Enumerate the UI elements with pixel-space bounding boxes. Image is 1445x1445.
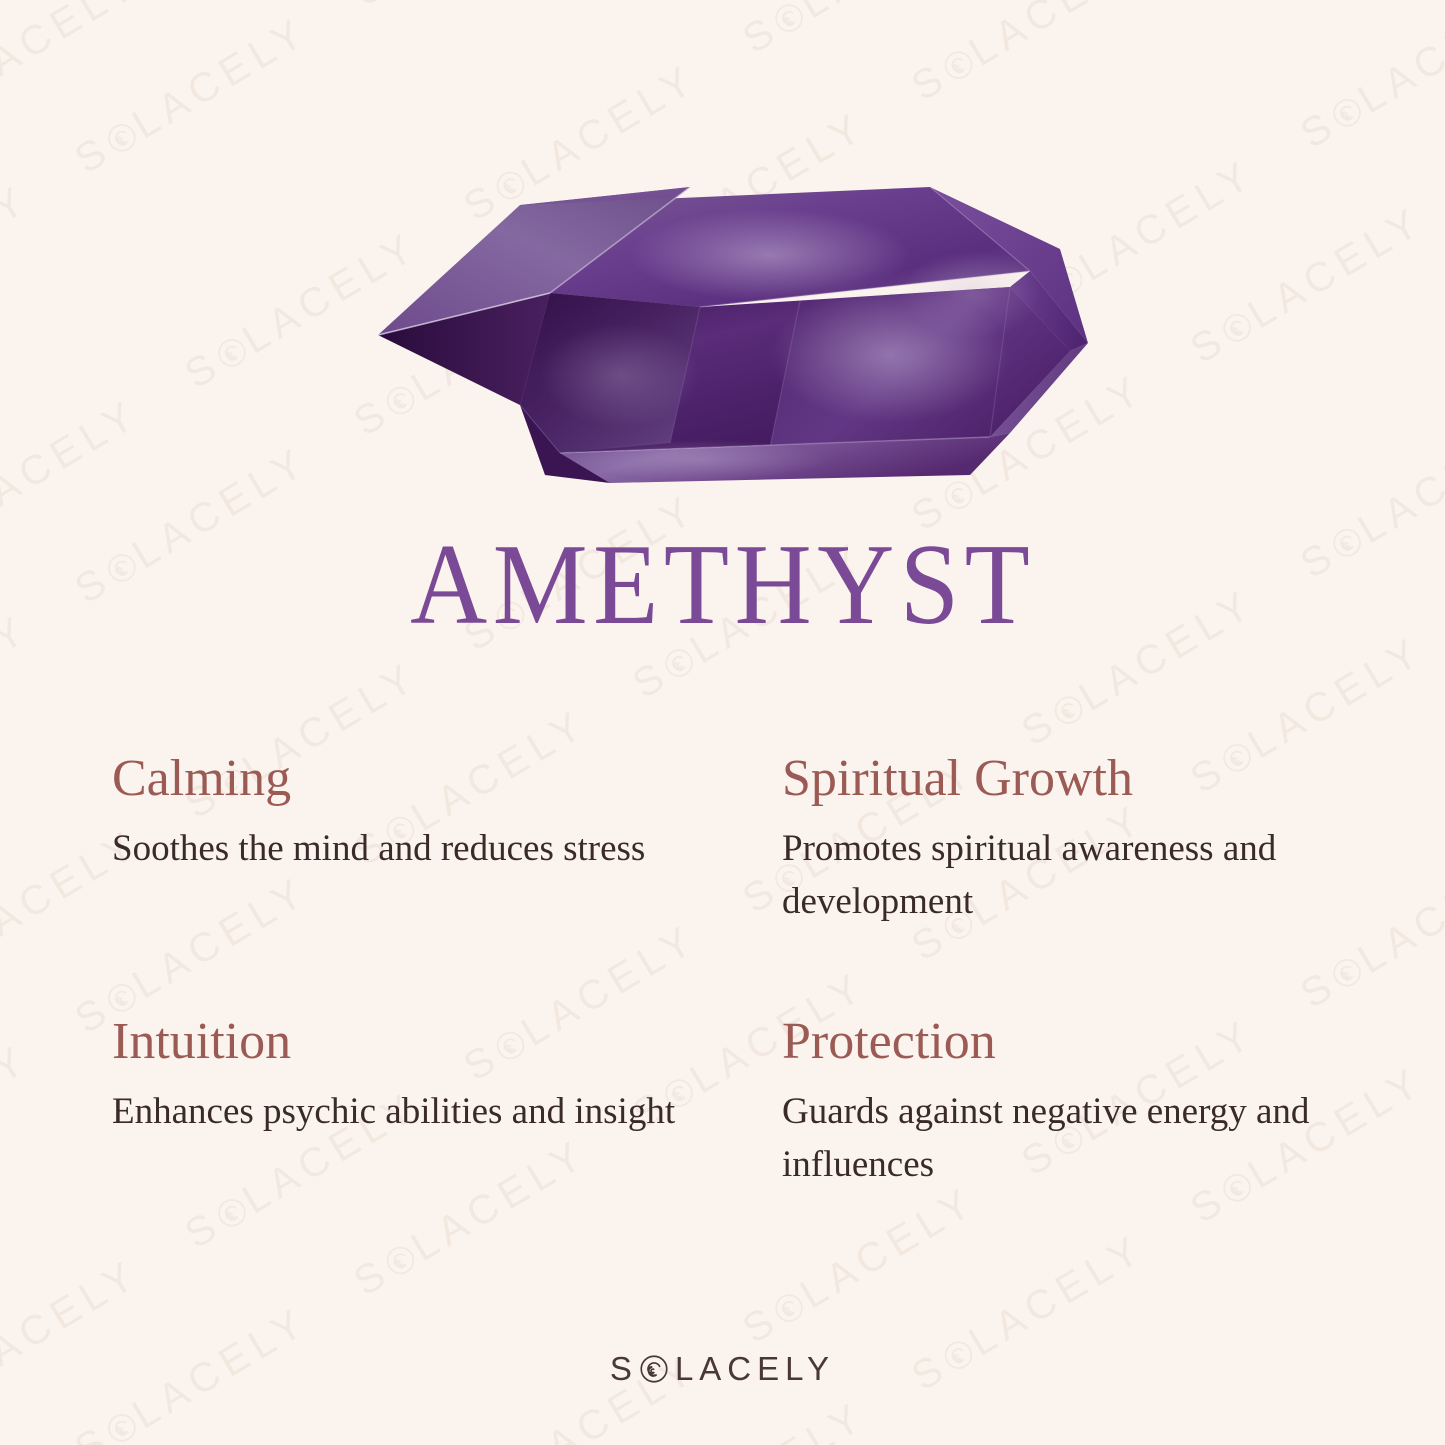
watermark-word: SLACELY	[0, 1252, 146, 1423]
crystal-info-card: SLACELYSLACELYSLACELYSLACELYSLACELYSLACE…	[0, 0, 1445, 1445]
watermark-word: SLACELY	[68, 10, 315, 181]
amethyst-crystal-image	[370, 175, 1095, 495]
spiral-icon	[211, 1192, 253, 1234]
watermark-word: SLACELY	[0, 1037, 36, 1208]
watermark-word: SLACELY	[905, 0, 1152, 108]
watermark-word: SLACELY	[0, 177, 36, 348]
spiral-icon	[938, 45, 980, 87]
page-title: AMETHYST	[0, 527, 1445, 643]
benefit-description: Guards against negative energy and influ…	[782, 1086, 1342, 1191]
watermark-word: SLACELY	[736, 1180, 983, 1351]
page-title-text: AMETHYST	[410, 527, 1035, 643]
spiral-icon	[380, 1240, 422, 1282]
watermark-word: SLACELY	[1294, 0, 1445, 155]
spiral-icon	[211, 332, 253, 374]
benefit-title: Calming	[112, 752, 782, 805]
spiral-icon	[1048, 690, 1090, 732]
spiral-o-icon	[639, 1354, 669, 1384]
watermark-word: SLACELY	[736, 0, 983, 60]
spiral-icon	[101, 117, 143, 159]
spiral-icon	[769, 0, 811, 39]
brand-logo-suffix: LACELY	[675, 1352, 835, 1385]
watermark-word: SLACELY	[1184, 199, 1431, 370]
benefits-grid: Calming Soothes the mind and reduces str…	[112, 752, 1342, 1191]
benefit-description: Enhances psychic abilities and insight	[112, 1086, 712, 1139]
benefit-item-protection: Protection Guards against negative energ…	[782, 1015, 1342, 1191]
spiral-icon	[769, 1287, 811, 1329]
brand-logo-inner: S LACELY	[610, 1352, 835, 1385]
spiral-icon	[1216, 307, 1258, 349]
benefit-item-calming: Calming Soothes the mind and reduces str…	[112, 752, 782, 928]
benefit-title: Spiritual Growth	[782, 752, 1342, 805]
spiral-icon	[101, 1407, 143, 1445]
benefit-description: Soothes the mind and reduces stress	[112, 823, 712, 876]
benefit-description: Promotes spiritual awareness and develop…	[782, 823, 1342, 928]
benefit-title: Protection	[782, 1015, 1342, 1068]
watermark-row: SLACELYSLACELYSLACELYSLACELYSLACELYSLACE…	[0, 0, 1445, 133]
brand-logo-prefix: S	[610, 1352, 638, 1385]
watermark-word: SLACELY	[626, 1395, 873, 1445]
watermark-word: SLACELY	[0, 0, 146, 133]
watermark-word: SLACELY	[347, 0, 594, 13]
benefit-item-intuition: Intuition Enhances psychic abilities and…	[112, 1015, 782, 1191]
benefit-item-spiritual-growth: Spiritual Growth Promotes spiritual awar…	[782, 752, 1342, 928]
spiral-icon	[1326, 92, 1368, 134]
brand-logo: S LACELY	[0, 1352, 1445, 1385]
benefit-title: Intuition	[112, 1015, 782, 1068]
